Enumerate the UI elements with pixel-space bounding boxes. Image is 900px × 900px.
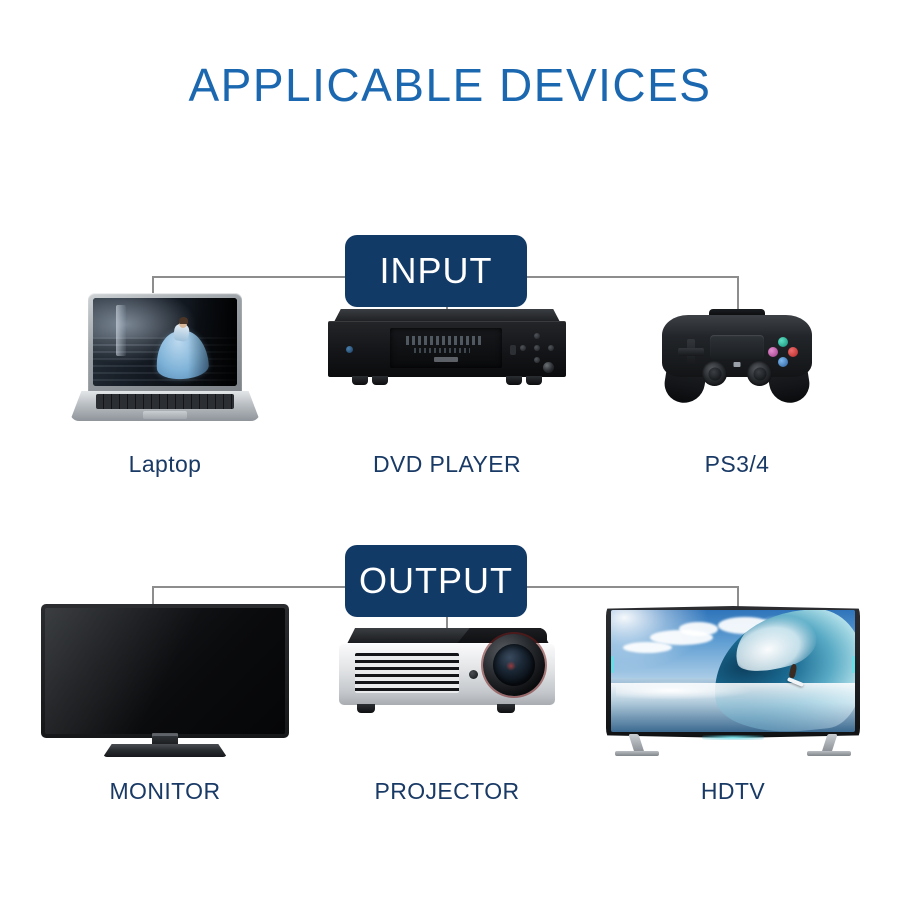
page-title: APPLICABLE DEVICES [0, 58, 900, 112]
device-hdtv[interactable]: HDTV [604, 600, 862, 805]
hub-output[interactable]: OUTPUT [345, 545, 527, 617]
projector-icon [330, 600, 564, 760]
device-laptop[interactable]: Laptop [48, 285, 282, 478]
game-controller-icon [648, 285, 826, 435]
device-caption-hdtv: HDTV [604, 778, 862, 805]
device-playstation[interactable]: PS3/4 [648, 285, 826, 478]
hub-input-label: INPUT [380, 250, 493, 292]
device-caption-dvd-player: DVD PLAYER [330, 451, 564, 478]
hdtv-icon [604, 600, 862, 760]
connector-input-left-horizontal [152, 276, 347, 278]
monitor-icon [40, 600, 290, 760]
hub-output-label: OUTPUT [359, 560, 513, 602]
connector-output-left-horizontal [152, 586, 347, 588]
device-monitor[interactable]: MONITOR [40, 600, 290, 805]
device-projector[interactable]: PROJECTOR [330, 600, 564, 805]
device-caption-laptop: Laptop [48, 451, 282, 478]
hub-input[interactable]: INPUT [345, 235, 527, 307]
device-dvd-player[interactable]: DVD PLAYER [330, 285, 564, 478]
connector-output-right-horizontal [525, 586, 739, 588]
device-caption-projector: PROJECTOR [330, 778, 564, 805]
laptop-icon [48, 285, 282, 435]
connector-input-right-horizontal [525, 276, 739, 278]
device-caption-monitor: MONITOR [40, 778, 290, 805]
dvd-player-icon [330, 285, 564, 435]
applicable-devices-diagram: APPLICABLE DEVICES INPUT [0, 0, 900, 900]
device-caption-playstation: PS3/4 [648, 451, 826, 478]
